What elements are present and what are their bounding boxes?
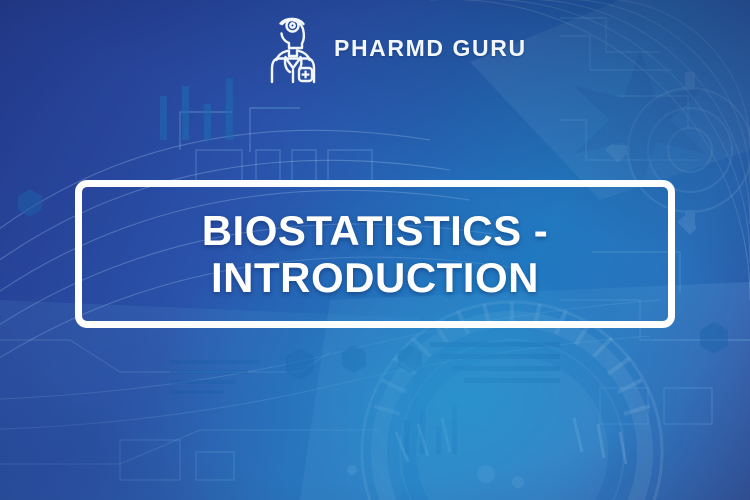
brand-logo: PHARMD GURU — [262, 12, 527, 84]
title-frame-border — [75, 180, 675, 328]
medical-cross-icon — [302, 71, 310, 79]
doctor-with-head-mirror-icon — [262, 12, 324, 84]
banner-root: PHARMD GURU BIOSTATISTICS - INTRODUCTION — [0, 0, 750, 500]
brand-name: PHARMD GURU — [334, 37, 527, 60]
